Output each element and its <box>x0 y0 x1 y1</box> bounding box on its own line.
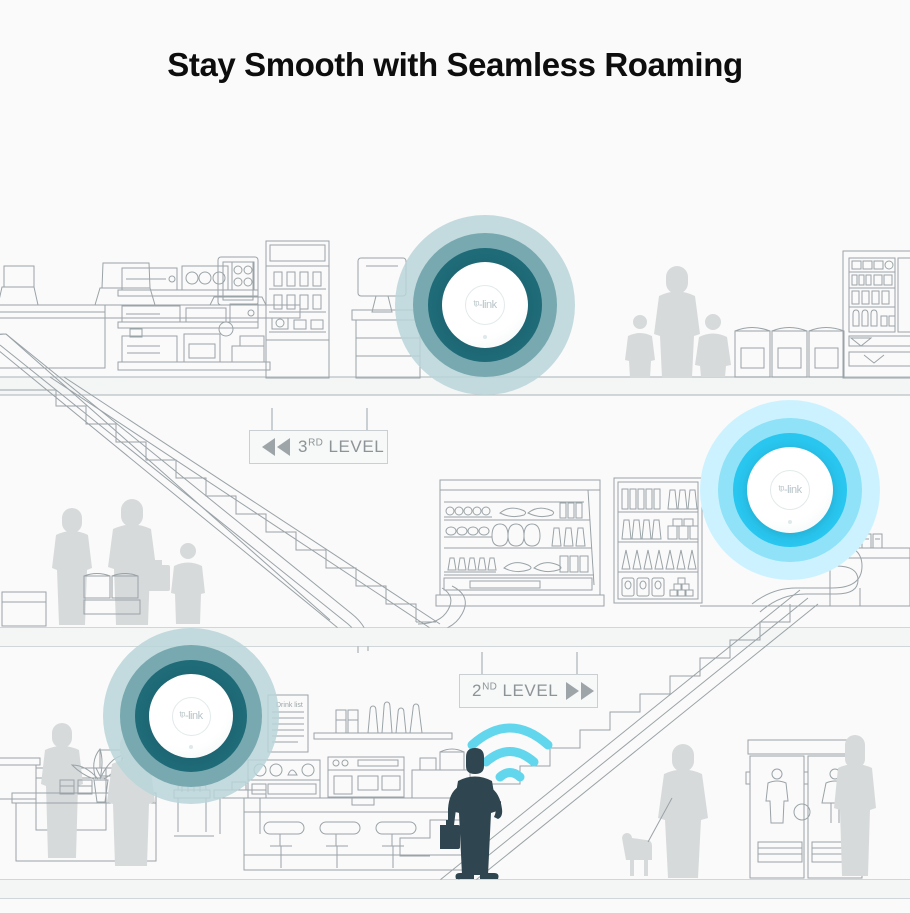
roaming-user-group <box>440 705 590 885</box>
access-point-first-level[interactable]: ᵗᵖ-link <box>103 628 279 804</box>
electronics-table-left <box>0 257 300 368</box>
ap-device-body[interactable]: ᵗᵖ-link <box>747 447 833 533</box>
second-level-sign[interactable]: 2ND LEVEL <box>459 674 598 708</box>
phone-display-cabinet <box>266 241 329 378</box>
third-level-sign[interactable]: 3RD LEVEL <box>249 430 388 464</box>
beverage-shelving <box>614 478 702 603</box>
ap-device-body[interactable]: ᵗᵖ-link <box>149 674 233 758</box>
illustration-canvas: Stay Smooth with Seamless Roaming .ln{fi… <box>0 0 910 913</box>
triangle-right-icon <box>566 682 579 700</box>
sign-rod-3rd-left <box>271 408 273 430</box>
triangle-left-icon <box>262 438 275 456</box>
bar-wall-shelf <box>314 702 452 739</box>
tp-link-logo: ᵗᵖ-link <box>473 299 496 311</box>
wifi-signal-icon <box>472 728 548 777</box>
third-level-people <box>625 266 731 378</box>
third-level-sign-label: 3RD LEVEL <box>298 437 384 457</box>
sign-rod-2nd-right <box>576 652 578 674</box>
tp-link-logo: ᵗᵖ-link <box>778 484 801 496</box>
triangle-left-icon <box>277 438 290 456</box>
ap-status-led <box>788 520 792 524</box>
sign-rod-3rd-right <box>366 408 368 430</box>
triangle-right-icon <box>581 682 594 700</box>
ap-status-led <box>189 745 193 749</box>
svg-text:Drink list: Drink list <box>276 702 303 709</box>
access-point-second-level[interactable]: ᵗᵖ-link <box>700 400 880 580</box>
dog-walker <box>622 744 708 878</box>
male-pictogram <box>766 769 788 823</box>
businessman-silhouette <box>440 748 502 879</box>
tp-link-logo: ᵗᵖ-link <box>179 710 202 722</box>
sign-arrows-right <box>566 682 594 700</box>
vending-machine <box>843 251 910 378</box>
ap-status-led <box>483 335 487 339</box>
second-level-people <box>2 499 205 626</box>
stereo-shelving <box>118 262 270 370</box>
ap-device-body[interactable]: ᵗᵖ-link <box>442 262 528 348</box>
access-point-third-level[interactable]: ᵗᵖ-link <box>395 215 575 395</box>
trash-bins <box>735 328 844 378</box>
grocery-display-case <box>436 480 604 606</box>
second-level-sign-label: 2ND LEVEL <box>472 681 558 701</box>
sign-rod-2nd-left <box>481 652 483 674</box>
sign-arrows-left <box>262 438 290 456</box>
coffee-bar <box>244 749 472 870</box>
